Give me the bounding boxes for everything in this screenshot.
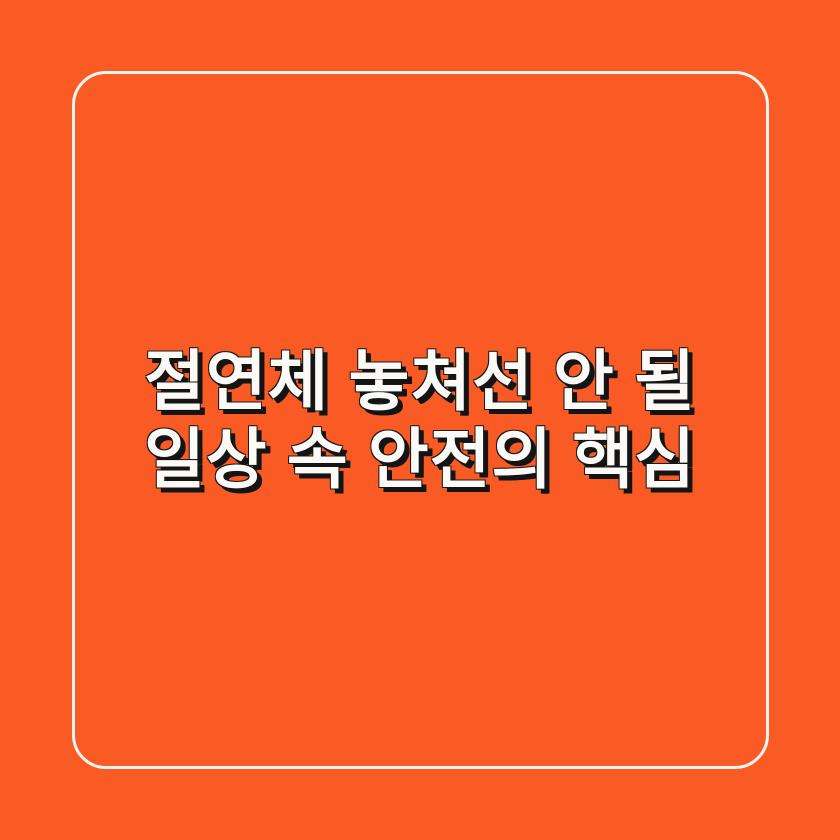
headline-line-2: 일상 속 안전의 핵심 xyxy=(144,420,696,498)
headline-line-1: 절연체 놓쳐선 안 될 xyxy=(144,342,696,420)
thumbnail-card: 절연체 놓쳐선 안 될 일상 속 안전의 핵심 xyxy=(0,0,840,840)
headline-block: 절연체 놓쳐선 안 될 일상 속 안전의 핵심 xyxy=(0,0,840,840)
